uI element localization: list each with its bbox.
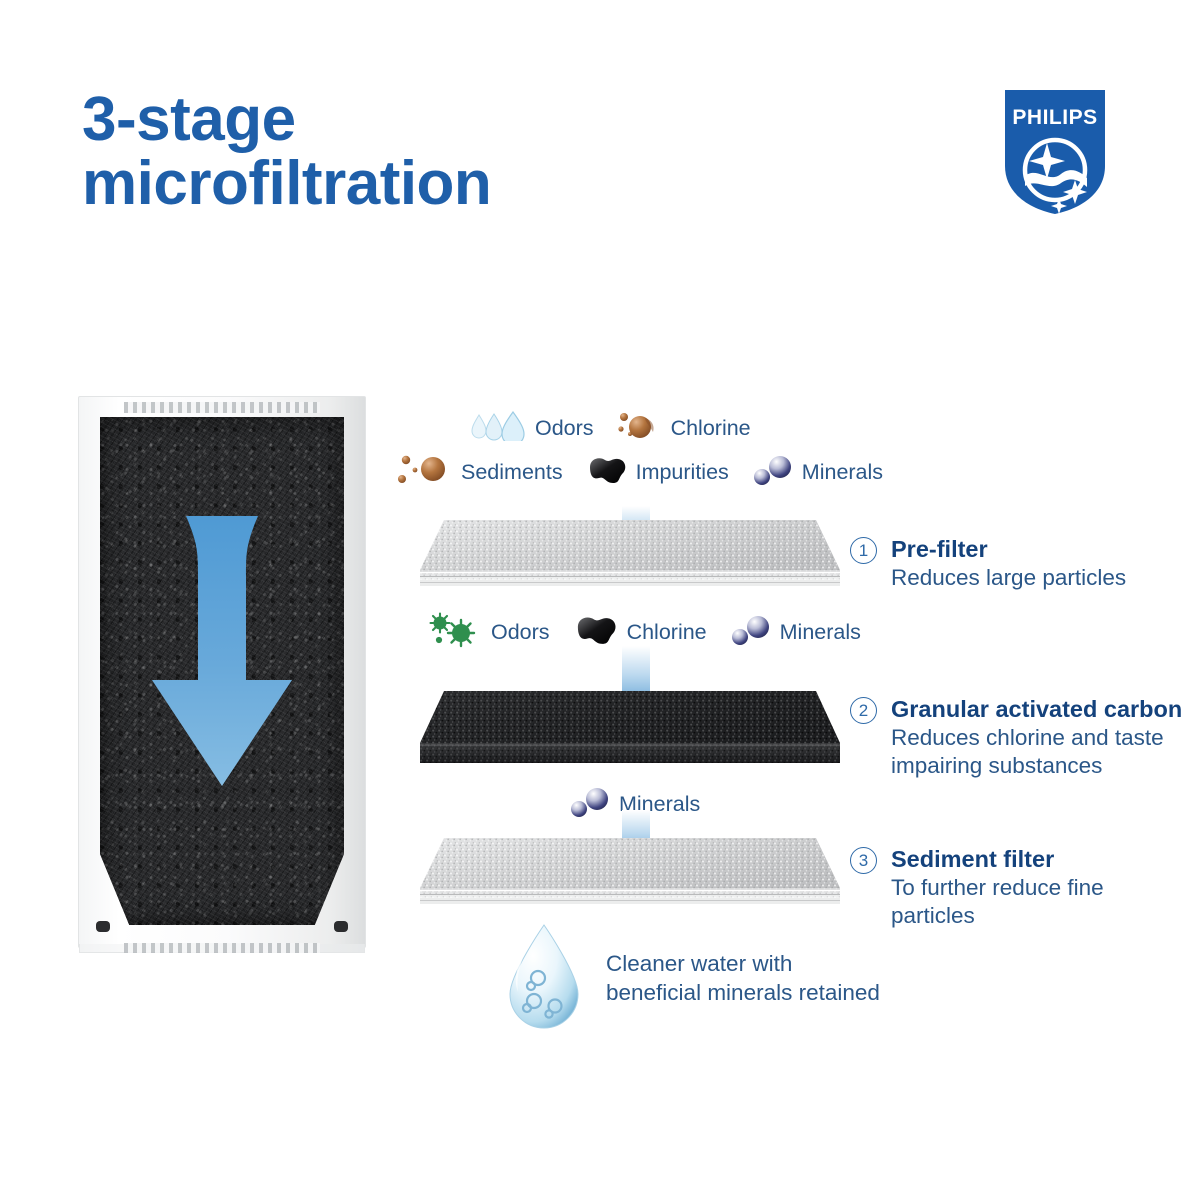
cartridge-flow-arrow-icon — [146, 514, 298, 806]
infographic-page: 3-stage microfiltration PHILIPS — [0, 0, 1200, 1200]
impurity-blob-icon — [585, 455, 629, 490]
stage-title: Pre-filter — [891, 534, 1126, 564]
cartridge-pin-right — [334, 921, 348, 932]
filter-cartridge-image — [78, 396, 366, 948]
mineral-spheres-icon — [729, 614, 773, 651]
chip-label: Minerals — [780, 620, 861, 645]
stage-number-badge: 1 — [850, 537, 877, 564]
chip-minerals: Minerals — [729, 614, 861, 651]
germ-icon — [428, 612, 484, 653]
chip-odors-germs: Odors — [428, 612, 550, 653]
chip-label: Chlorine — [627, 620, 707, 645]
chip-label: Chlorine — [671, 416, 751, 441]
chip-label: Minerals — [802, 460, 883, 485]
sediment-particle-icon — [398, 452, 454, 493]
water-droplet-with-minerals-icon — [498, 922, 590, 1034]
stage-description: Reduces chlorine and taste impairing sub… — [891, 724, 1182, 780]
stage2-filter-layer — [420, 687, 840, 767]
water-drops-icon — [470, 411, 528, 446]
cartridge-top-vents — [124, 402, 320, 413]
svg-text:PHILIPS: PHILIPS — [1012, 106, 1097, 129]
stage1-inputs-line2: Sediments Impurities Minerals — [398, 452, 883, 493]
chip-label: Odors — [535, 416, 594, 441]
stage3-filter-layer — [420, 830, 840, 910]
chip-odors-drops: Odors — [470, 411, 594, 446]
cartridge-bottom-vents — [124, 943, 320, 953]
cartridge-pin-left — [96, 921, 110, 932]
philips-logo: PHILIPS — [1003, 88, 1107, 216]
chip-impurities: Impurities — [585, 455, 729, 490]
chip-label: Odors — [491, 620, 550, 645]
chlorine-particle-icon — [616, 410, 664, 447]
chip-label: Sediments — [461, 460, 563, 485]
outcome-block: Cleaner water with beneficial minerals r… — [498, 922, 880, 1034]
stage-item-2: 2 Granular activated carbon Reduces chlo… — [850, 694, 1182, 780]
stage-description: Reduces large particles — [891, 564, 1126, 592]
outcome-text: Cleaner water with beneficial minerals r… — [606, 949, 880, 1008]
stage-number-badge: 2 — [850, 697, 877, 724]
chip-chlorine: Chlorine — [616, 410, 751, 447]
stage1-inputs-line1: Odors Chlorine — [470, 410, 751, 447]
chip-sediments: Sediments — [398, 452, 563, 493]
chip-label: Impurities — [636, 460, 729, 485]
stage-number-badge: 3 — [850, 847, 877, 874]
stage-item-1: 1 Pre-filter Reduces large particles — [850, 534, 1126, 592]
stage-title: Granular activated carbon — [891, 694, 1182, 724]
page-title: 3-stage microfiltration — [82, 88, 491, 216]
chip-minerals: Minerals — [751, 454, 883, 491]
mineral-spheres-icon — [751, 454, 795, 491]
stage1-filter-layer — [420, 512, 840, 592]
stage-description: To further reduce fine particles — [891, 874, 1188, 930]
stage-title: Sediment filter — [891, 844, 1188, 874]
filtration-stages-diagram: Odors Chlorine — [398, 404, 1188, 1044]
stage-item-3: 3 Sediment filter To further reduce fine… — [850, 844, 1188, 930]
